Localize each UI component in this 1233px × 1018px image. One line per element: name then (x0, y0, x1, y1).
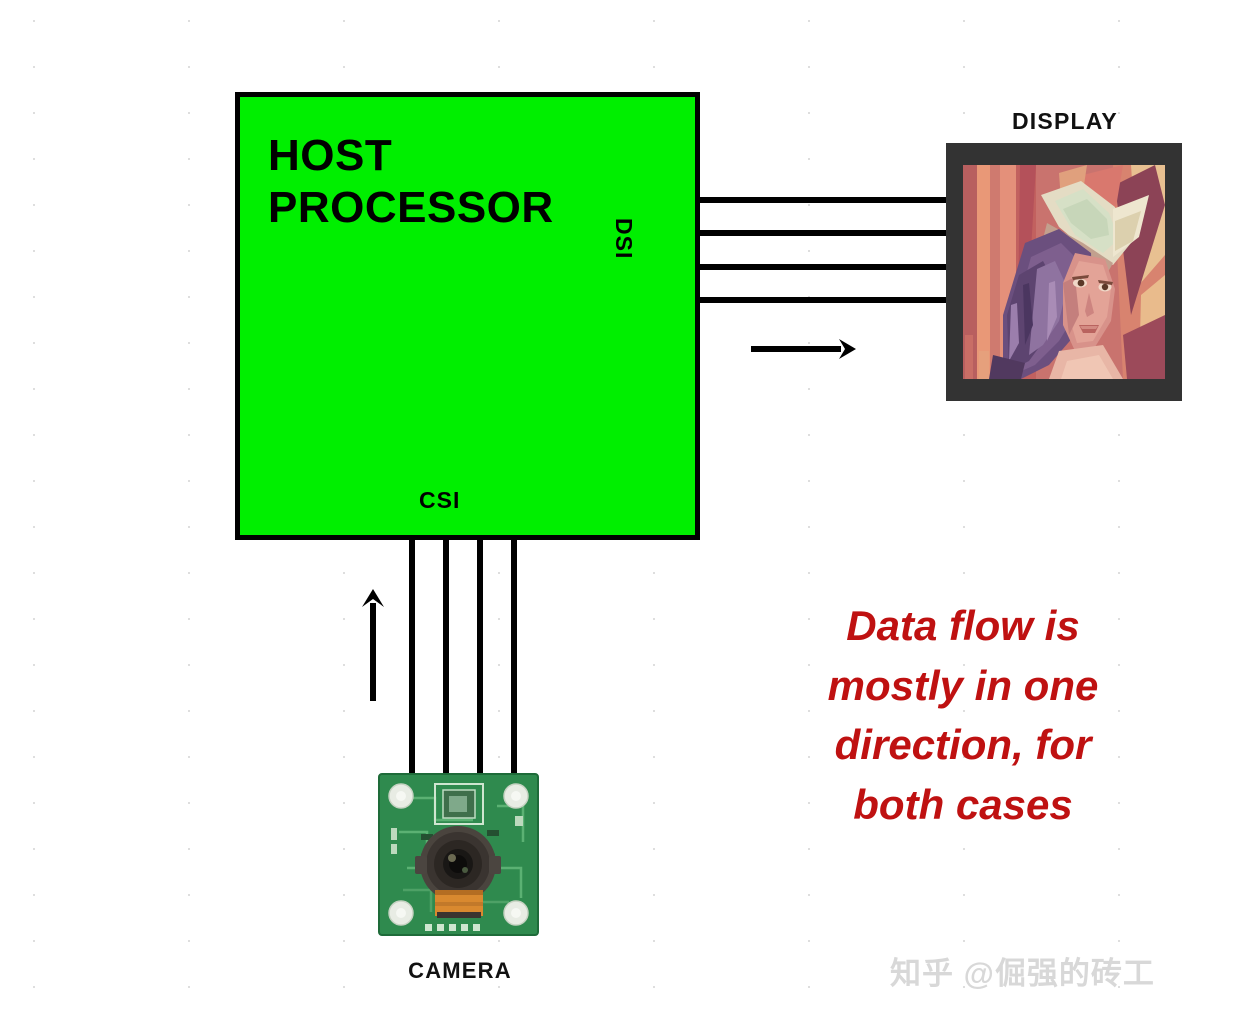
dsi-lane-line (700, 297, 948, 303)
csi-lane-line (443, 540, 449, 778)
dsi-lane-line (700, 197, 948, 203)
csi-lane-line (409, 540, 415, 778)
display-label: DISPLAY (940, 108, 1190, 135)
dsi-lane-line (700, 264, 948, 270)
lena-test-image (963, 165, 1165, 379)
display-screen (963, 165, 1165, 379)
dsi-lane-line (700, 230, 948, 236)
csi-lane-line (477, 540, 483, 778)
arrow-right-icon (751, 338, 856, 360)
camera-label: CAMERA (360, 958, 560, 984)
data-flow-annotation: Data flow is mostly in one direction, fo… (796, 596, 1130, 835)
display-bezel (946, 143, 1182, 401)
watermark: 知乎 @倔强的砖工 (890, 948, 1210, 993)
arrow-up-icon (358, 589, 388, 701)
dsi-port-label: DSI (610, 218, 637, 259)
csi-lane-line (511, 540, 517, 778)
diagram-canvas: HOST PROCESSOR DSI CSI DISPLAY (0, 0, 1233, 1018)
camera-module-pcb (377, 772, 540, 937)
host-processor-title: HOST PROCESSOR (268, 130, 628, 234)
csi-port-label: CSI (419, 487, 460, 514)
